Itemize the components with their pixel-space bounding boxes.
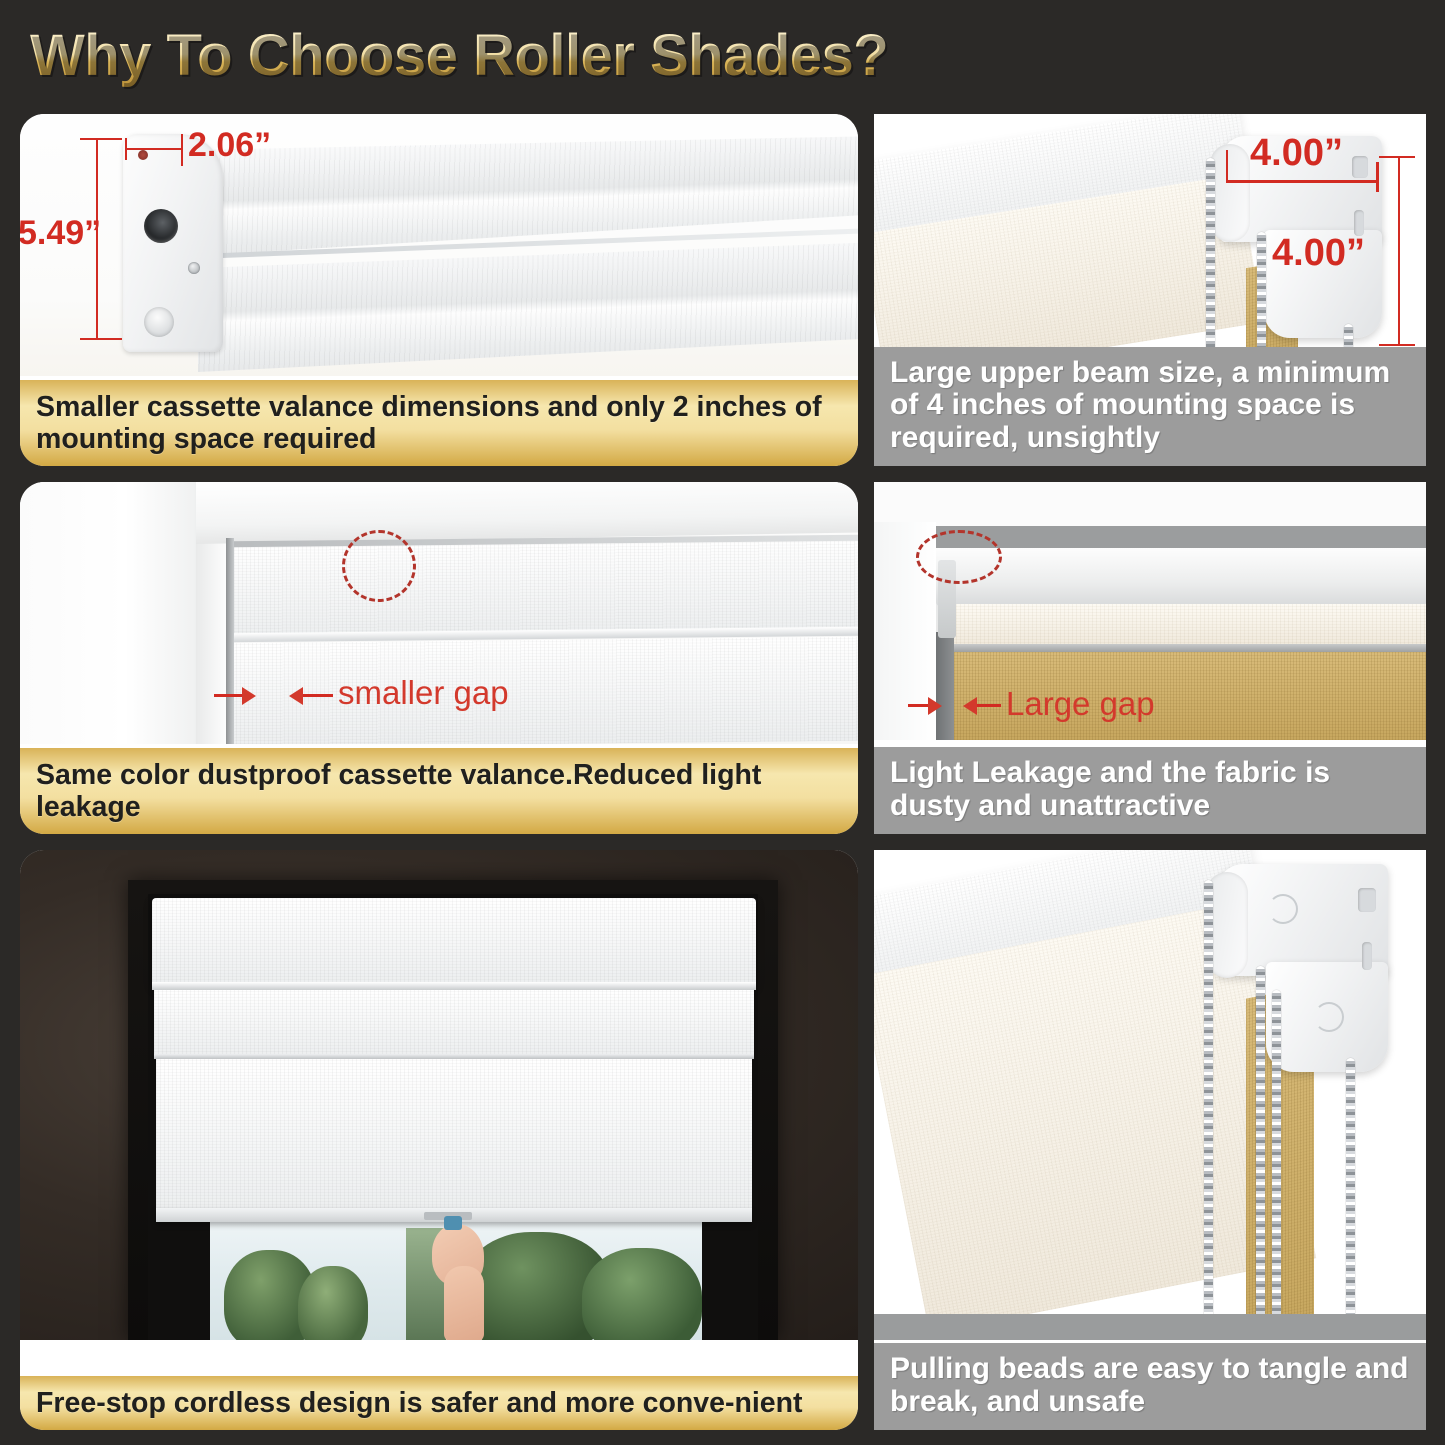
dim-tick-right — [181, 134, 183, 166]
bead-chain-mid2 — [1272, 990, 1281, 1340]
panel-5-photo — [20, 850, 858, 1340]
gap-arrow-left-head — [242, 687, 256, 705]
cream-fabric-band — [940, 604, 1426, 646]
panel-disadvantage-light-leakage: Large gap Light Leakage and the fabric i… — [874, 482, 1426, 834]
tree-2 — [298, 1266, 368, 1340]
highlight-ellipse — [342, 530, 416, 602]
gap-arrow-right-head — [289, 687, 303, 705]
gap-arrow-left-line — [214, 694, 244, 697]
gap-arrow-left-line — [908, 704, 930, 707]
panel-2-photo: 4.00” 4.00” — [874, 114, 1426, 372]
dim-tick-top — [80, 138, 122, 140]
infographic-page: Why To Choose Roller Shades? — [0, 0, 1445, 1445]
headrail-lip — [152, 982, 756, 990]
shade-side-channel — [226, 538, 234, 744]
panel-4-photo: Large gap — [874, 482, 1426, 740]
tree-4 — [582, 1248, 702, 1340]
dimension-label-height: 5.49” — [20, 214, 101, 253]
panel-advantage-dustproof: smaller gap Same color dustproof cassett… — [20, 482, 858, 834]
window-head-casing — [196, 482, 858, 544]
page-title-text: Why To Choose Roller Shades? — [30, 23, 888, 88]
valance-slot-icon — [144, 209, 178, 243]
headrail — [936, 548, 1426, 606]
light-gap-column — [936, 632, 954, 740]
dim-line-206 — [125, 148, 183, 150]
dim-tick-h-right — [1376, 162, 1379, 192]
bead-chain-left — [1206, 158, 1215, 372]
panel-5-caption: Free-stop cordless design is safer and m… — [20, 1376, 858, 1430]
panel-disadvantage-bead-chain: Pulling beads are easy to tangle and bre… — [874, 850, 1426, 1430]
panel-advantage-valance-size: 2.06” 5.49” Smaller cassette valance dim… — [20, 114, 858, 466]
shade-fabric-body — [232, 637, 858, 744]
dimension-label-width-4: 4.00” — [1250, 132, 1343, 175]
panel-4-caption: Light Leakage and the fabric is dusty an… — [874, 747, 1426, 834]
bottom-rail — [936, 644, 1426, 652]
forearm — [444, 1266, 484, 1340]
bead-chain-right — [1346, 1058, 1355, 1340]
window-jamb-left — [20, 482, 196, 744]
panel-6-photo — [874, 850, 1426, 1340]
page-title: Why To Choose Roller Shades? — [30, 16, 1230, 96]
dimension-label-width: 2.06” — [188, 126, 271, 165]
bracket-slot-icon — [1358, 888, 1376, 912]
floor-strip — [874, 1314, 1426, 1340]
highlight-ellipse — [916, 530, 1002, 584]
gap-label-smaller: smaller gap — [338, 674, 509, 712]
dim-tick-h-left — [1226, 150, 1228, 180]
mount-hole-icon — [144, 307, 174, 337]
comparison-grid: 2.06” 5.49” Smaller cassette valance dim… — [0, 100, 1445, 1445]
shade-valance-strip — [154, 990, 754, 1058]
shade-fabric — [156, 1059, 752, 1214]
panel-3-caption: Same color dustproof cassette valance.Re… — [20, 748, 858, 834]
wall-top — [874, 482, 1426, 526]
panel-disadvantage-beam-size: 4.00” 4.00” Large upper beam size, a min… — [874, 114, 1426, 466]
bead-chain-left — [1204, 880, 1213, 1340]
dim-tick-v-bottom — [1379, 344, 1415, 346]
panel-1-caption: Smaller cassette valance dimensions and … — [20, 380, 858, 466]
dim-tick-bottom — [80, 338, 122, 340]
gap-arrow-right-head — [963, 697, 977, 715]
panel-3-photo: smaller gap — [20, 482, 858, 744]
gap-arrow-right-line — [977, 704, 1001, 707]
screw-top-icon — [138, 150, 148, 160]
dimension-label-height-4: 4.00” — [1272, 232, 1365, 275]
panel-1-photo: 2.06” 5.49” — [20, 114, 858, 376]
shade-valance — [230, 537, 858, 642]
dim-line-h — [1226, 180, 1378, 183]
rotation-emblem-2-icon — [1314, 1002, 1344, 1032]
gap-arrow-right-line — [303, 694, 333, 697]
shade-headrail — [152, 898, 756, 986]
gap-label-large: Large gap — [1006, 685, 1155, 723]
panel-advantage-cordless: Free-stop cordless design is safer and m… — [20, 850, 858, 1430]
dim-tick-v-top — [1379, 156, 1415, 158]
bracket-slot-icon — [1352, 156, 1368, 178]
panel-2-caption: Large upper beam size, a minimum of 4 in… — [874, 347, 1426, 466]
screw-mid-icon — [188, 262, 200, 274]
panel-6-caption: Pulling beads are easy to tangle and bre… — [874, 1343, 1426, 1430]
bead-chain-mid — [1256, 966, 1265, 1340]
rotation-emblem-icon — [1268, 894, 1298, 924]
bracket-slot-2-icon — [1362, 942, 1372, 970]
roller-end-disc — [1210, 144, 1250, 242]
dim-line-v — [1398, 156, 1400, 346]
pull-grip — [444, 1216, 462, 1230]
gap-arrow-left-head — [928, 697, 942, 715]
